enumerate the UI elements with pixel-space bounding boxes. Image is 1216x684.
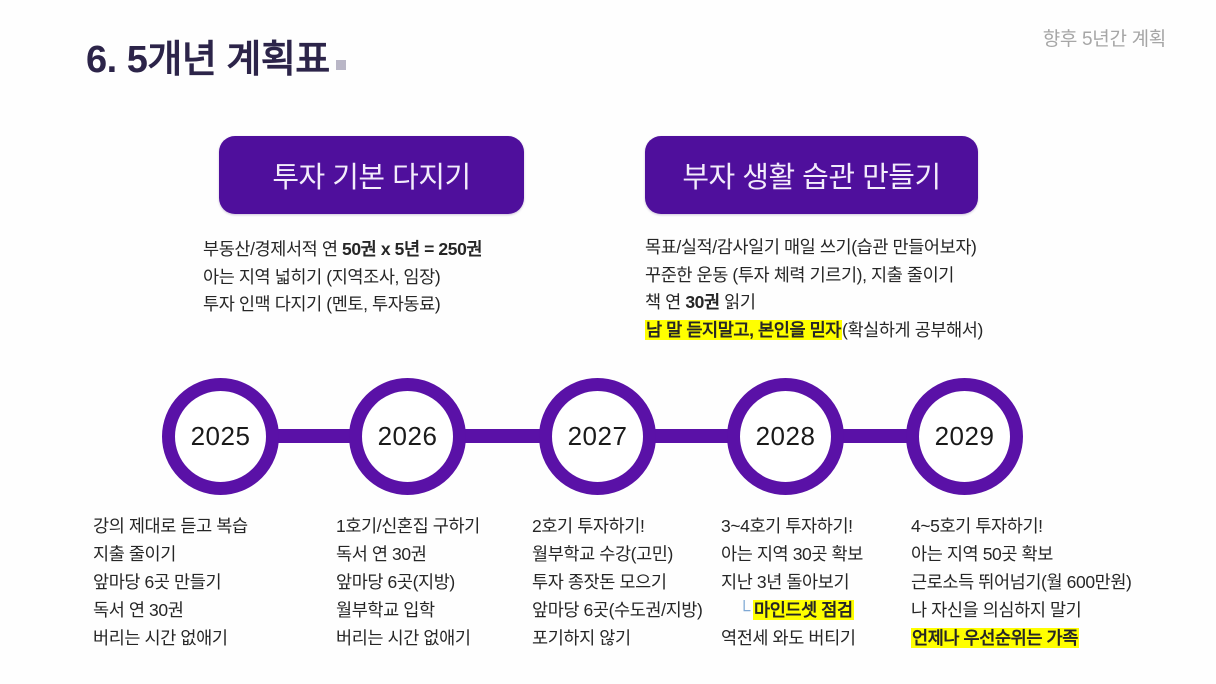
list-item-label: 독서 연 30권 <box>93 600 183 620</box>
list-item-label: 앞마당 6곳(수도권/지방) <box>532 600 702 620</box>
list-item: 지출 줄이기 <box>93 540 248 568</box>
list-item: 월부학교 입학 <box>336 596 480 624</box>
list-item-label: 버리는 시간 없애기 <box>93 628 228 648</box>
detail-line: 목표/실적/감사일기 매일 쓰기(습관 만들어보자) <box>645 234 983 262</box>
detail-line: 아는 지역 넓히기 (지역조사, 임장) <box>203 264 482 292</box>
list-item: 투자 종잣돈 모으기 <box>532 568 702 596</box>
year-column-2027: 2호기 투자하기! 월부학교 수강(고민) 투자 종잣돈 모으기 앞마당 6곳(… <box>532 512 702 652</box>
list-item-label: 앞마당 6곳 만들기 <box>93 572 221 592</box>
timeline-node-2028[interactable]: 2028 <box>727 378 844 495</box>
list-item-label: 2호기 투자하기! <box>532 516 644 536</box>
year-column-2025: 강의 제대로 듣고 복습 지출 줄이기 앞마당 6곳 만들기 독서 연 30권 … <box>93 512 248 652</box>
list-item-label: 투자 종잣돈 모으기 <box>532 572 667 592</box>
list-item-label: 아는 지역 50곳 확보 <box>911 544 1053 564</box>
list-item-label: 월부학교 수강(고민) <box>532 544 673 564</box>
highlight-text: 남 말 듣지말고, 본인을 믿자 <box>645 320 842 340</box>
theme-banner-rich-habits[interactable]: 부자 생활 습관 만들기 <box>645 136 978 214</box>
list-item-label: 지출 줄이기 <box>93 544 176 564</box>
list-item-label: 아는 지역 30곳 확보 <box>721 544 863 564</box>
list-item-label: 포기하지 않기 <box>532 628 631 648</box>
detail-line-bold: 30권 <box>685 292 719 312</box>
list-item: 나 자신을 의심하지 말기 <box>911 596 1131 624</box>
list-item-label: 4~5호기 투자하기! <box>911 516 1043 536</box>
list-item: 역전세 와도 버티기 <box>721 624 863 652</box>
timeline: 2025 2026 2027 2028 2029 <box>0 372 1216 502</box>
timeline-node-2025[interactable]: 2025 <box>162 378 279 495</box>
list-item-label: 지난 3년 돌아보기 <box>721 572 849 592</box>
list-item-label: 나 자신을 의심하지 말기 <box>911 600 1081 620</box>
list-item: 앞마당 6곳 만들기 <box>93 568 248 596</box>
theme-detail-list-investment-basics: 부동산/경제서적 연 50권 x 5년 = 250권 아는 지역 넓히기 (지역… <box>203 236 482 319</box>
detail-line-pre: 목표/실적/감사일기 매일 쓰기(습관 만들어보자) <box>645 237 976 257</box>
branch-connector-icon: └ <box>738 600 750 620</box>
list-item-label: 1호기/신혼집 구하기 <box>336 516 480 536</box>
list-item-highlighted: 언제나 우선순위는 가족 <box>911 624 1131 652</box>
detail-line-pre: 부동산/경제서적 연 <box>203 239 342 259</box>
timeline-node-2029[interactable]: 2029 <box>906 378 1023 495</box>
timeline-node-2027[interactable]: 2027 <box>539 378 656 495</box>
detail-line-post: (확실하게 공부해서) <box>842 320 983 340</box>
year-column-2026: 1호기/신혼집 구하기 독서 연 30권 앞마당 6곳(지방) 월부학교 입학 … <box>336 512 480 652</box>
page-title-text: 6. 5개년 계획표 <box>86 39 330 81</box>
list-item: 2호기 투자하기! <box>532 512 702 540</box>
list-item: 근로소득 뛰어넘기(월 600만원) <box>911 568 1131 596</box>
list-item-label: 강의 제대로 듣고 복습 <box>93 516 248 536</box>
list-item-label: 3~4호기 투자하기! <box>721 516 853 536</box>
list-item: 독서 연 30권 <box>93 596 248 624</box>
list-item-label: 버리는 시간 없애기 <box>336 628 471 648</box>
detail-line-bold: 50권 x 5년 = 250권 <box>342 239 482 259</box>
list-item-highlighted: └마인드셋 점검 <box>721 596 863 624</box>
list-item: 월부학교 수강(고민) <box>532 540 702 568</box>
list-item: 1호기/신혼집 구하기 <box>336 512 480 540</box>
detail-line-pre: 투자 인맥 다지기 (멘토, 투자동료) <box>203 294 440 314</box>
list-item: 아는 지역 50곳 확보 <box>911 540 1131 568</box>
detail-line-pre: 책 연 <box>645 292 685 312</box>
detail-line-post: 읽기 <box>720 292 756 312</box>
detail-line-pre: 아는 지역 넓히기 (지역조사, 임장) <box>203 267 440 287</box>
list-item-label: 역전세 와도 버티기 <box>721 628 856 648</box>
list-item: 아는 지역 30곳 확보 <box>721 540 863 568</box>
list-item: 4~5호기 투자하기! <box>911 512 1131 540</box>
detail-line: 꾸준한 운동 (투자 체력 기르기), 지출 줄이기 <box>645 262 983 290</box>
list-item: 버리는 시간 없애기 <box>336 624 480 652</box>
theme-detail-list-rich-habits: 목표/실적/감사일기 매일 쓰기(습관 만들어보자) 꾸준한 운동 (투자 체력… <box>645 234 983 344</box>
year-column-2028: 3~4호기 투자하기! 아는 지역 30곳 확보 지난 3년 돌아보기 └마인드… <box>721 512 863 652</box>
list-item: 앞마당 6곳(지방) <box>336 568 480 596</box>
list-item-label: 마인드셋 점검 <box>753 600 854 620</box>
detail-line-pre: 꾸준한 운동 (투자 체력 기르기), 지출 줄이기 <box>645 265 954 285</box>
timeline-node-2026[interactable]: 2026 <box>349 378 466 495</box>
list-item-label: 근로소득 뛰어넘기(월 600만원) <box>911 572 1131 592</box>
list-item: 독서 연 30권 <box>336 540 480 568</box>
detail-line: 투자 인맥 다지기 (멘토, 투자동료) <box>203 291 482 319</box>
detail-line: 부동산/경제서적 연 50권 x 5년 = 250권 <box>203 236 482 264</box>
detail-line-highlighted: 남 말 듣지말고, 본인을 믿자(확실하게 공부해서) <box>645 317 983 345</box>
list-item: 앞마당 6곳(수도권/지방) <box>532 596 702 624</box>
page-title: 6. 5개년 계획표 <box>86 28 346 83</box>
theme-banner-investment-basics[interactable]: 투자 기본 다지기 <box>219 136 524 214</box>
list-item: 강의 제대로 듣고 복습 <box>93 512 248 540</box>
list-item-label: 앞마당 6곳(지방) <box>336 572 455 592</box>
list-item: 포기하지 않기 <box>532 624 702 652</box>
header-note: 향후 5년간 계획 <box>1043 24 1166 51</box>
list-item-label: 독서 연 30권 <box>336 544 426 564</box>
year-column-2029: 4~5호기 투자하기! 아는 지역 50곳 확보 근로소득 뛰어넘기(월 600… <box>911 512 1131 652</box>
title-accent-square <box>336 60 346 70</box>
list-item-label: 월부학교 입학 <box>336 600 435 620</box>
list-item: 3~4호기 투자하기! <box>721 512 863 540</box>
list-item-label: 언제나 우선순위는 가족 <box>911 628 1079 648</box>
detail-line: 책 연 30권 읽기 <box>645 289 983 317</box>
list-item: 지난 3년 돌아보기 <box>721 568 863 596</box>
list-item: 버리는 시간 없애기 <box>93 624 248 652</box>
